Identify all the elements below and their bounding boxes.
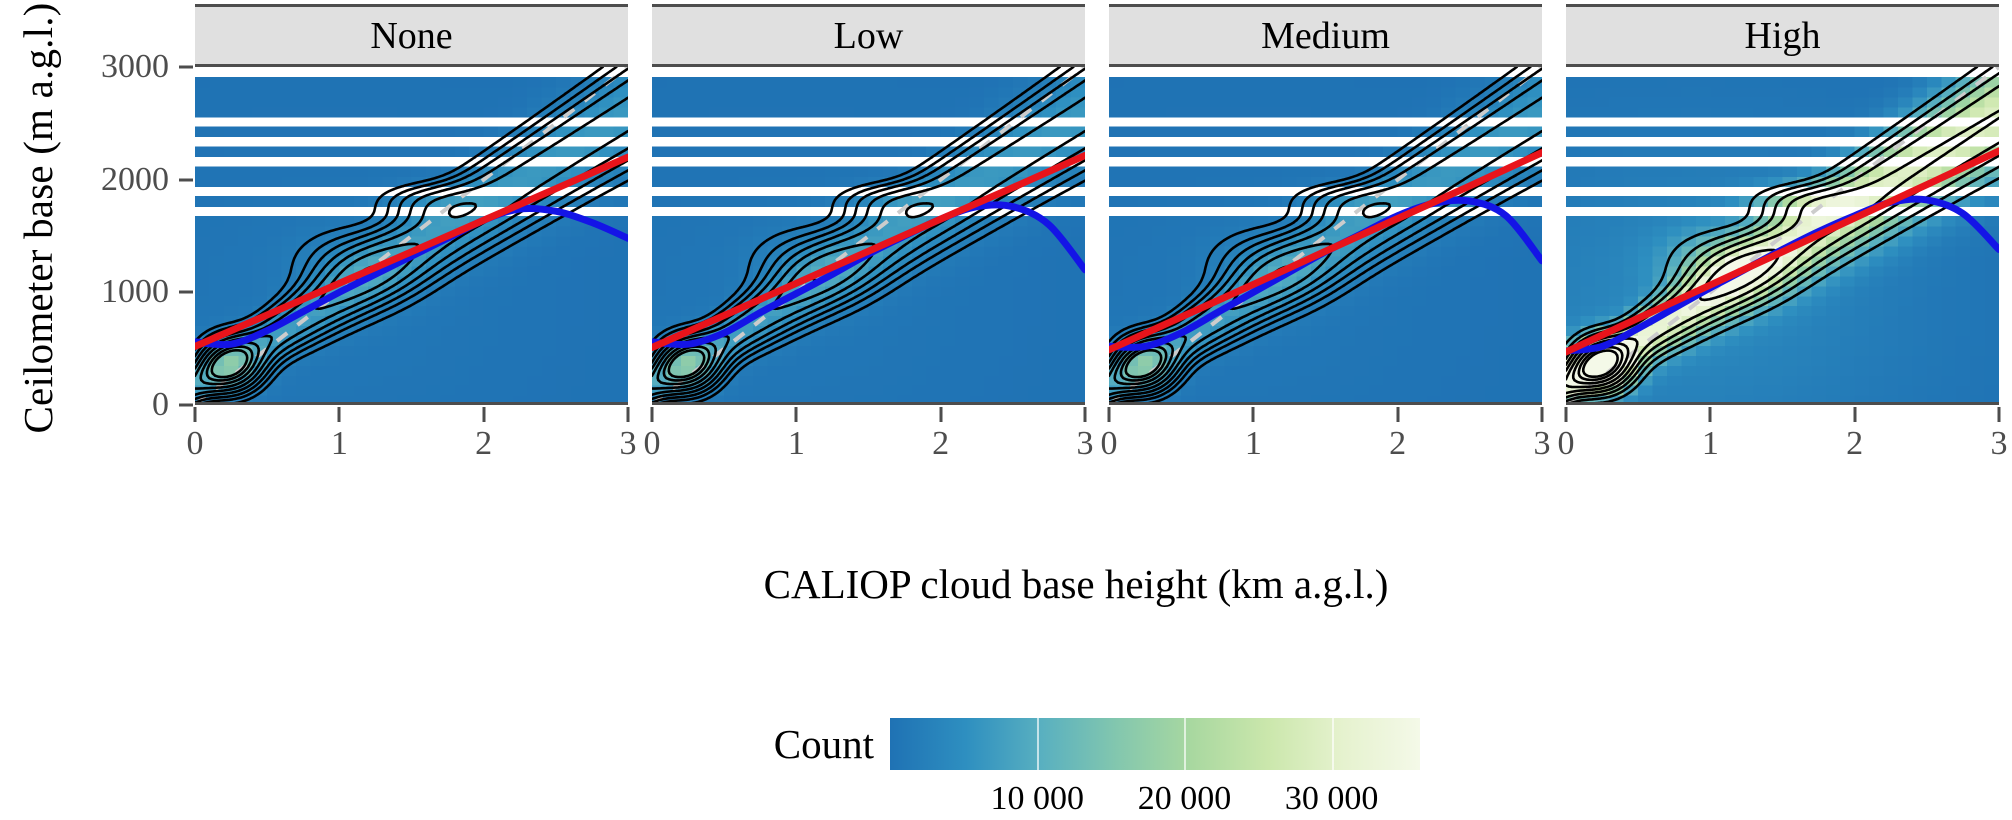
x-axis-title: CALIOP cloud base height (km a.g.l.) (140, 560, 2012, 608)
x-tick-mark (627, 407, 630, 422)
panel-low: Low (652, 4, 1085, 405)
panel-none: None (195, 4, 628, 405)
x-tick-mark (338, 407, 341, 422)
x-tick-label: 1 (788, 425, 805, 463)
x-tick-label: 2 (1389, 425, 1406, 463)
legend-colorbar (890, 718, 1420, 770)
x-tick-label: 2 (1846, 425, 1863, 463)
panel-strip-medium: Medium (1109, 4, 1542, 64)
y-tick-label: 1000 (9, 273, 169, 311)
x-tick-label: 3 (1534, 425, 1551, 463)
y-tick-mark (179, 291, 193, 294)
x-tick-label: 3 (620, 425, 637, 463)
panel-strip-low: Low (652, 4, 1085, 64)
x-tick-mark (939, 407, 942, 422)
figure-root: Ceilometer base (m a.g.l.) 0100020003000… (0, 0, 2012, 820)
x-tick-mark (1541, 407, 1544, 422)
panel-medium: Medium (1109, 4, 1542, 405)
x-tick-mark (1084, 407, 1087, 422)
legend-title: Count (774, 720, 874, 768)
legend-tick-label: 30 000 (1285, 780, 1379, 818)
x-tick-label: 3 (1991, 425, 2008, 463)
x-tick-mark (1709, 407, 1712, 422)
y-tick-mark (179, 404, 193, 407)
legend-tick-label: 10 000 (990, 780, 1084, 818)
x-tick-mark (651, 407, 654, 422)
legend-tick-label: 20 000 (1138, 780, 1232, 818)
y-tick-mark (179, 178, 193, 181)
x-tick-label: 0 (1558, 425, 1575, 463)
panel-high: High (1566, 4, 1999, 405)
x-tick-mark (1108, 407, 1111, 422)
y-tick-mark (179, 66, 193, 69)
x-tick-label: 0 (1101, 425, 1118, 463)
x-tick-mark (482, 407, 485, 422)
x-tick-mark (1853, 407, 1856, 422)
plot-area-low (652, 64, 1085, 405)
plot-area-high (1566, 64, 1999, 405)
plot-area-medium (1109, 64, 1542, 405)
x-tick-mark (795, 407, 798, 422)
x-tick-mark (194, 407, 197, 422)
x-tick-label: 0 (644, 425, 661, 463)
legend-tick-mark (1332, 718, 1334, 770)
legend-tick-mark (1184, 718, 1186, 770)
x-tick-label: 1 (331, 425, 348, 463)
x-tick-mark (1565, 407, 1568, 422)
x-tick-label: 1 (1702, 425, 1719, 463)
x-tick-label: 2 (475, 425, 492, 463)
panel-strip-label: Medium (1261, 14, 1390, 58)
x-tick-mark (1396, 407, 1399, 422)
x-tick-mark (1252, 407, 1255, 422)
x-tick-mark (1998, 407, 2001, 422)
plot-area-none (195, 64, 628, 405)
x-tick-label: 0 (187, 425, 204, 463)
x-tick-label: 3 (1077, 425, 1094, 463)
panel-strip-none: None (195, 4, 628, 64)
x-tick-label: 1 (1245, 425, 1262, 463)
x-tick-label: 2 (932, 425, 949, 463)
panel-strip-label: None (370, 14, 452, 58)
panel-strip-label: High (1745, 14, 1821, 58)
y-tick-label: 3000 (9, 48, 169, 86)
y-tick-label: 2000 (9, 161, 169, 199)
panel-strip-label: Low (834, 14, 904, 58)
legend-gradient (890, 718, 1420, 770)
panel-strip-high: High (1566, 4, 1999, 64)
y-tick-label: 0 (9, 386, 169, 424)
legend-tick-mark (1037, 718, 1039, 770)
